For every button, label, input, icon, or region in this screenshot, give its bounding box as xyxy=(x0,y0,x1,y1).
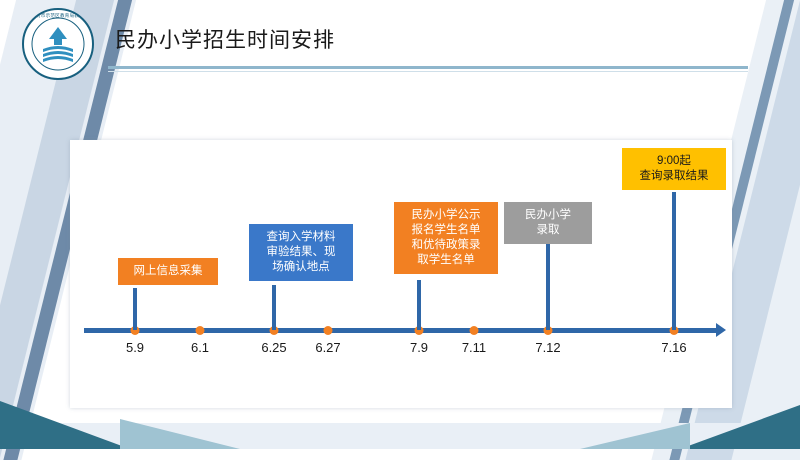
timeline-tick-label: 7.9 xyxy=(410,340,428,355)
timeline-tick-label: 7.16 xyxy=(661,340,686,355)
timeline-tick-label: 6.1 xyxy=(191,340,209,355)
education-bureau-logo: 开封市示范区教育局教研室 xyxy=(22,8,94,80)
timeline-card: 5.96.16.256.277.97.117.127.16网上信息采集查询入学材… xyxy=(70,140,732,408)
timeline-event-box: 9:00起 查询录取结果 xyxy=(622,148,726,190)
timeline-tick-label: 7.12 xyxy=(535,340,560,355)
timeline-dot xyxy=(196,326,205,335)
timeline-connector xyxy=(546,244,550,330)
timeline-diagram: 5.96.16.256.277.97.117.127.16网上信息采集查询入学材… xyxy=(70,140,732,408)
logo-emblem-icon xyxy=(29,15,87,73)
slide-header: 开封市示范区教育局教研室 民办小学招生时间安排 xyxy=(0,0,800,86)
timeline-axis xyxy=(84,328,718,333)
title-divider xyxy=(108,66,748,69)
timeline-event-box: 民办小学公示 报名学生名单 和优待政策录 取学生名单 xyxy=(394,202,498,274)
background-corner-left-light xyxy=(120,419,240,449)
timeline-connector xyxy=(672,192,676,330)
background-corner-left-dark xyxy=(0,401,130,449)
timeline-event-box: 查询入学材料 审验结果、现 场确认地点 xyxy=(249,224,353,281)
timeline-dot xyxy=(324,326,333,335)
timeline-connector xyxy=(417,280,421,330)
timeline-event-box: 网上信息采集 xyxy=(118,258,218,285)
page-title: 民办小学招生时间安排 xyxy=(115,24,335,54)
title-divider-thin xyxy=(108,71,748,72)
timeline-event-box: 民办小学 录取 xyxy=(504,202,592,244)
background-corner-right-dark xyxy=(680,405,800,449)
timeline-dot xyxy=(470,326,479,335)
background-corner-right-light xyxy=(580,423,690,449)
timeline-connector xyxy=(133,288,137,330)
timeline-axis-arrow-icon xyxy=(716,323,726,337)
timeline-tick-label: 6.25 xyxy=(261,340,286,355)
timeline-tick-label: 5.9 xyxy=(126,340,144,355)
timeline-tick-label: 6.27 xyxy=(315,340,340,355)
timeline-tick-label: 7.11 xyxy=(462,340,486,355)
timeline-connector xyxy=(272,285,276,330)
